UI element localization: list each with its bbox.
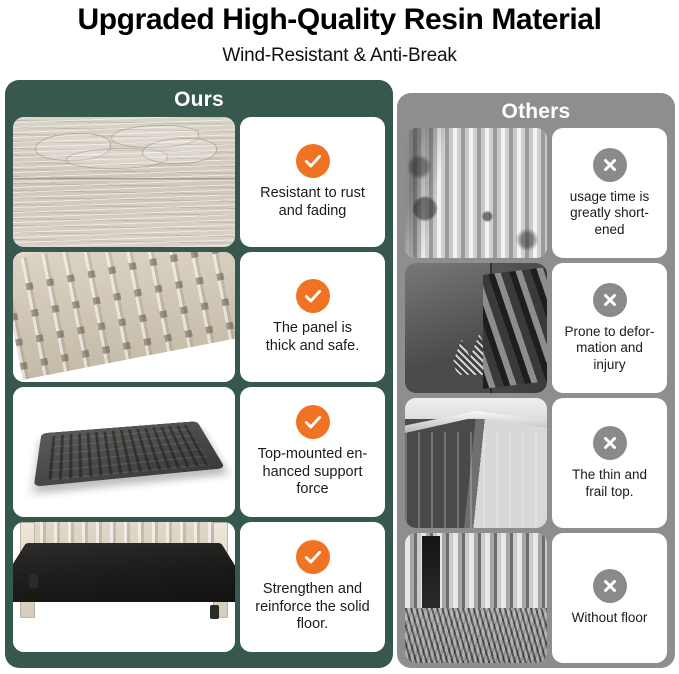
page-title: Upgraded High-Quality Resin Material <box>0 0 679 36</box>
check-icon <box>296 279 330 313</box>
check-icon <box>296 405 330 439</box>
feature-card: Top-mounted en- hanced support force <box>240 387 385 517</box>
rusted-corrugated-metal-photo <box>405 128 547 258</box>
comparison-row: usage time is greatly short- ened <box>397 128 675 258</box>
ours-rows: Resistant to rust and fading <box>5 117 393 657</box>
drawback-text: Prone to defor- mation and injury <box>564 324 654 374</box>
feature-text: The panel is thick and safe. <box>266 320 360 356</box>
drawback-card: Without floor <box>552 533 667 663</box>
drawback-card: The thin and frail top. <box>552 398 667 528</box>
cross-icon <box>593 283 627 317</box>
others-rows: usage time is greatly short- ened Prone … <box>397 128 675 668</box>
feature-text: Strengthen and reinforce the solid floor… <box>255 581 369 634</box>
feature-text: Resistant to rust and fading <box>260 185 365 221</box>
beige-wood-grain-panel-photo <box>13 117 235 247</box>
thick-slotted-resin-panels-photo <box>13 252 235 382</box>
drawback-text: usage time is greatly short- ened <box>570 189 650 239</box>
ours-column: Ours Resistant to rust and fading <box>5 80 393 668</box>
cross-icon <box>593 569 627 603</box>
drawback-card: usage time is greatly short- ened <box>552 128 667 258</box>
ours-column-heading: Ours <box>5 80 393 112</box>
comparison-row: Strengthen and reinforce the solid floor… <box>5 522 393 652</box>
drawback-card: Prone to defor- mation and injury <box>552 263 667 393</box>
comparison-row: Top-mounted en- hanced support force <box>5 387 393 517</box>
feature-text: Top-mounted en- hanced support force <box>258 446 368 499</box>
dark-ribbed-floor-panel-photo <box>13 387 235 517</box>
deformed-damaged-metal-photo <box>405 263 547 393</box>
shed-base-on-grass-photo <box>405 533 547 663</box>
comparison-row: Without floor <box>397 533 675 663</box>
cross-icon <box>593 148 627 182</box>
feature-card: Strengthen and reinforce the solid floor… <box>240 522 385 652</box>
check-icon <box>296 540 330 574</box>
others-column-heading: Others <box>397 93 675 124</box>
comparison-row: The thin and frail top. <box>397 398 675 528</box>
feature-card: The panel is thick and safe. <box>240 252 385 382</box>
feature-card: Resistant to rust and fading <box>240 117 385 247</box>
others-column: Others usage time is greatly short- ened <box>397 93 675 668</box>
comparison-section: Ours Resistant to rust and fading <box>0 80 679 674</box>
check-icon <box>296 144 330 178</box>
shed-interior-solid-floor-photo <box>13 522 235 652</box>
drawback-text: Without floor <box>572 610 648 627</box>
comparison-row: Prone to defor- mation and injury <box>397 263 675 393</box>
page-subtitle: Wind-Resistant & Anti-Break <box>0 36 679 67</box>
comparison-row: The panel is thick and safe. <box>5 252 393 382</box>
drawback-text: The thin and frail top. <box>572 467 647 500</box>
comparison-row: Resistant to rust and fading <box>5 117 393 247</box>
cross-icon <box>593 426 627 460</box>
thin-metal-roof-corner-photo <box>405 398 547 528</box>
